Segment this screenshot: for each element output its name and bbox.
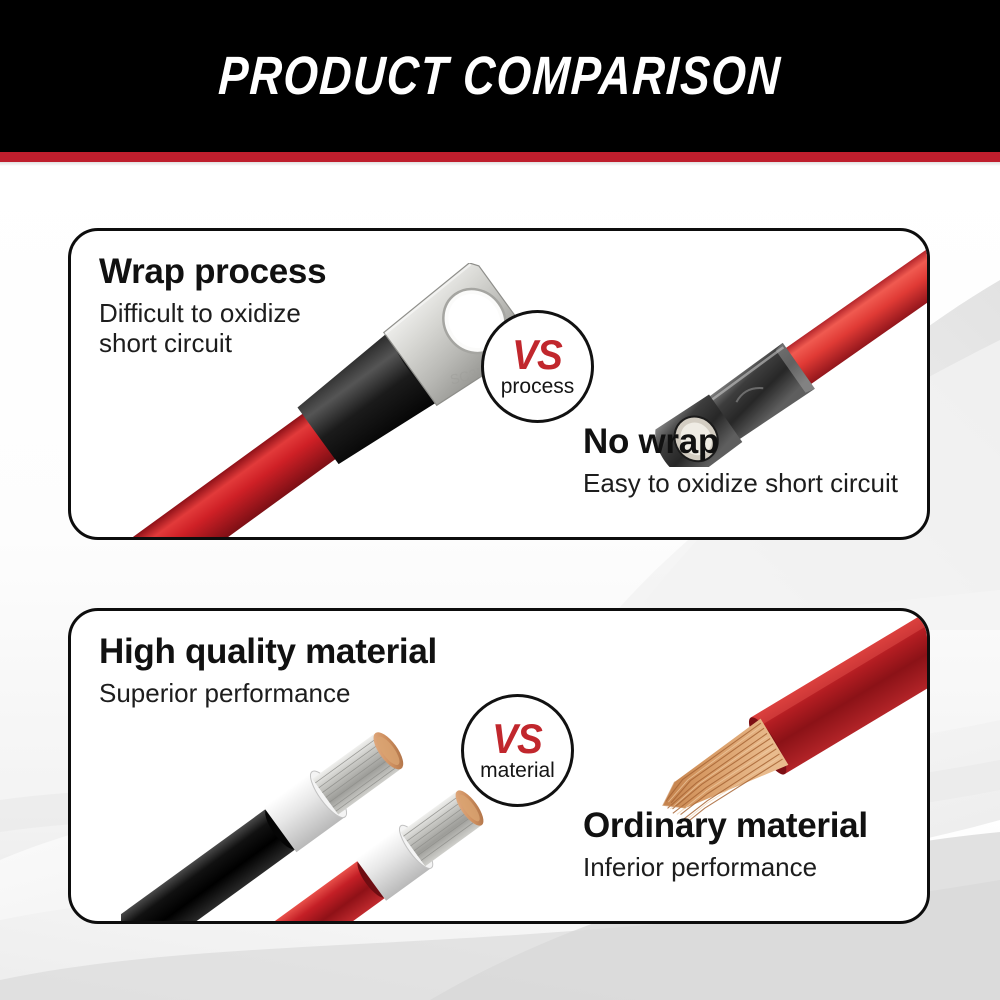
high-quality-text-group: High quality material Superior performan… — [99, 633, 437, 708]
no-wrap-subtext: Easy to oxidize short circuit — [583, 468, 898, 499]
ordinary-material-text-group: Ordinary material Inferior performance — [583, 807, 868, 882]
high-quality-heading: High quality material — [99, 633, 437, 672]
header-red-stripe — [0, 152, 1000, 162]
vs-badge-material: VS material — [461, 694, 574, 807]
vs-badge-process: VS process — [481, 310, 594, 423]
page-title: PRODUCT COMPARISON — [217, 45, 783, 107]
vs-label: VS — [513, 336, 563, 375]
tinned-copper-cable-image — [121, 671, 521, 924]
comparison-panel-wrap-process: SC35-10 Wrap process Difficult to oxidiz… — [68, 228, 930, 540]
wrap-process-subtext: Difficult to oxidize short circuit — [99, 298, 326, 359]
high-quality-subtext: Superior performance — [99, 678, 437, 709]
no-wrap-heading: No wrap — [583, 423, 898, 462]
header-stripe-shadow — [0, 162, 1000, 166]
product-comparison-infographic: PRODUCT COMPARISON — [0, 0, 1000, 1000]
vs-label: VS — [493, 720, 543, 759]
vs-sublabel: material — [480, 760, 555, 781]
comparison-panel-material: High quality material Superior performan… — [68, 608, 930, 924]
wrap-process-text-group: Wrap process Difficult to oxidize short … — [99, 253, 326, 359]
ordinary-material-subtext: Inferior performance — [583, 852, 868, 883]
header-banner: PRODUCT COMPARISON — [0, 0, 1000, 152]
ordinary-material-heading: Ordinary material — [583, 807, 868, 846]
vs-sublabel: process — [501, 376, 575, 397]
wrap-process-heading: Wrap process — [99, 253, 326, 292]
no-wrap-text-group: No wrap Easy to oxidize short circuit — [583, 423, 898, 498]
